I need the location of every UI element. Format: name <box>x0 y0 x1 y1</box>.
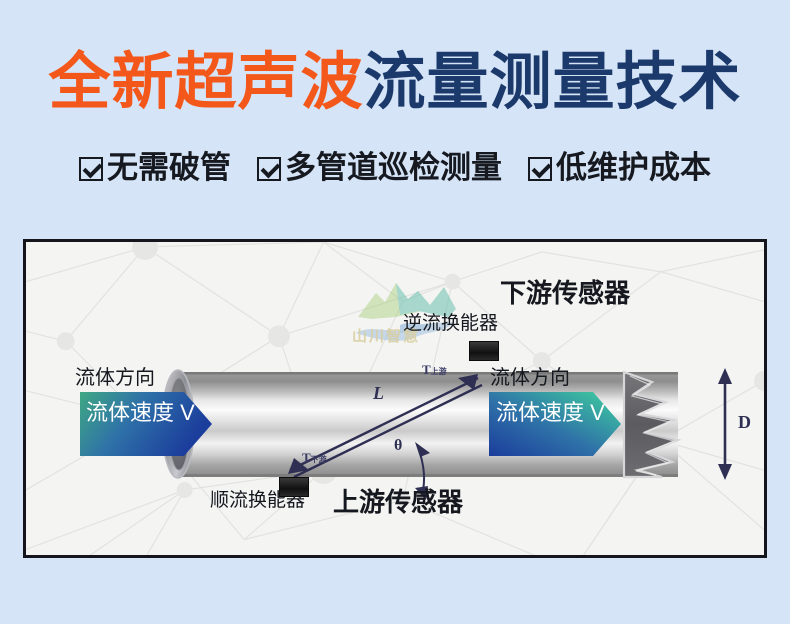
label-reverse-flow-transducer: 逆流换能器 <box>403 314 498 333</box>
label-t-downstream-subscript: 下游 <box>311 455 327 464</box>
feature-label: 无需破管 <box>107 152 231 183</box>
label-flow-velocity-left: 流体速度 V <box>86 402 195 424</box>
label-t-upstream-subscript: 上游 <box>431 367 447 376</box>
feature-label: 低维护成本 <box>556 152 711 183</box>
checkbox-checked-icon <box>528 157 552 181</box>
page-title-orange-part: 全新超声波 <box>48 48 363 117</box>
label-upstream-sensor: 上游传感器 <box>333 489 463 515</box>
ultrasonic-flow-diagram-panel: 山川智慧 流体方向 流体速度 V 流体方向 流体速度 V 下游传感器 上游传感器… <box>23 239 767 558</box>
upstream-transducer-block <box>279 477 309 497</box>
page-title: 全新超声波流量测量技术 <box>0 52 790 114</box>
label-flow-velocity-right: 流体速度 V <box>496 402 605 424</box>
page-title-navy-part: 流量测量技术 <box>364 48 742 117</box>
feature-item-multi-pipe-inspection: 多管道巡检测量 <box>257 152 502 183</box>
label-t-upstream: T上游 <box>422 363 447 376</box>
label-pipe-diameter-D: D <box>738 413 751 431</box>
checkbox-checked-icon <box>79 157 103 181</box>
label-t-upstream-main: T <box>422 362 431 377</box>
label-path-length-L: L <box>373 384 384 402</box>
label-flow-direction-left: 流体方向 <box>75 368 155 388</box>
label-t-downstream: T下游 <box>302 451 327 464</box>
feature-item-low-maintenance-cost: 低维护成本 <box>528 152 711 183</box>
feature-item-no-pipe-cut: 无需破管 <box>79 152 231 183</box>
feature-list: 无需破管 多管道巡检测量 低维护成本 <box>0 152 790 183</box>
downstream-transducer-block <box>469 341 499 361</box>
label-t-downstream-main: T <box>302 450 311 465</box>
label-flow-direction-right: 流体方向 <box>490 368 570 388</box>
label-downstream-sensor: 下游传感器 <box>500 280 630 306</box>
label-angle-theta: θ <box>394 438 402 454</box>
feature-label: 多管道巡检测量 <box>285 152 502 183</box>
checkbox-checked-icon <box>257 157 281 181</box>
